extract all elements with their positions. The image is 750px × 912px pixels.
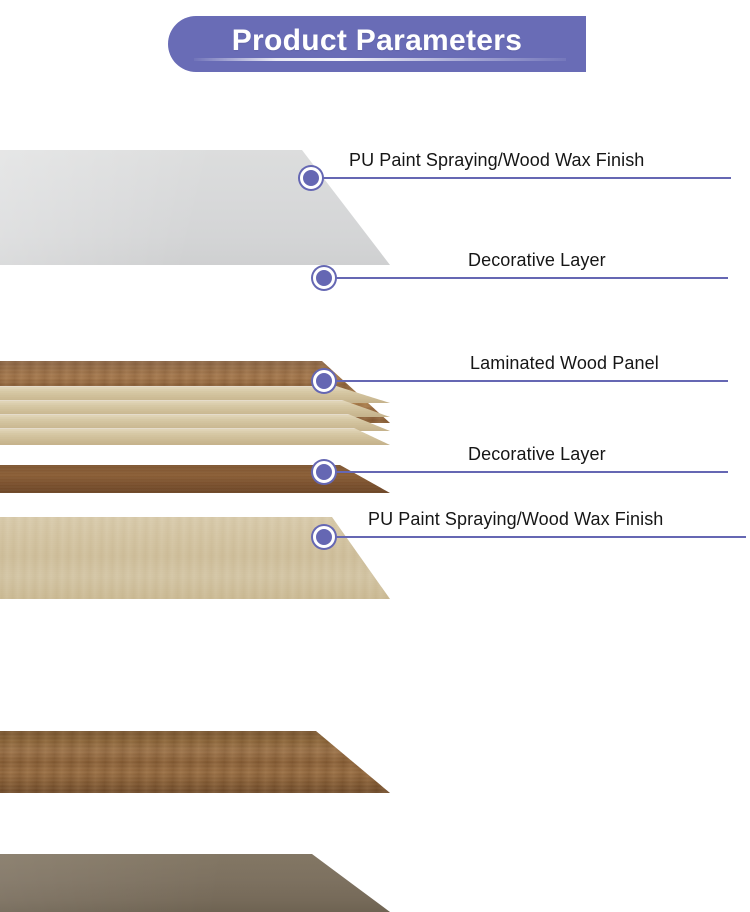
callout-label: Decorative Layer xyxy=(468,250,606,271)
callout-dot-icon xyxy=(313,526,335,548)
callout-leader-line xyxy=(311,177,731,179)
callout-dot-icon xyxy=(300,167,322,189)
callout-dot-icon xyxy=(313,267,335,289)
callout-dot-icon xyxy=(313,370,335,392)
layer-decorative-bottom xyxy=(0,731,390,793)
layered-panel-diagram: PU Paint Spraying/Wood Wax Finish Decora… xyxy=(0,0,750,589)
callout-dot-icon xyxy=(313,461,335,483)
callout-leader-line xyxy=(324,536,746,538)
layer-top-pu-coat xyxy=(0,150,390,265)
callout-label: PU Paint Spraying/Wood Wax Finish xyxy=(349,150,644,171)
layer-bottom-pu-coat xyxy=(0,854,390,912)
callout-leader-line xyxy=(324,277,728,279)
callout-leader-line xyxy=(324,380,728,382)
callout-label: Decorative Layer xyxy=(468,444,606,465)
layer-laminated-ply xyxy=(0,428,390,445)
callout-label: Laminated Wood Panel xyxy=(470,353,659,374)
callout-label: PU Paint Spraying/Wood Wax Finish xyxy=(368,509,663,530)
callout-leader-line xyxy=(324,471,728,473)
